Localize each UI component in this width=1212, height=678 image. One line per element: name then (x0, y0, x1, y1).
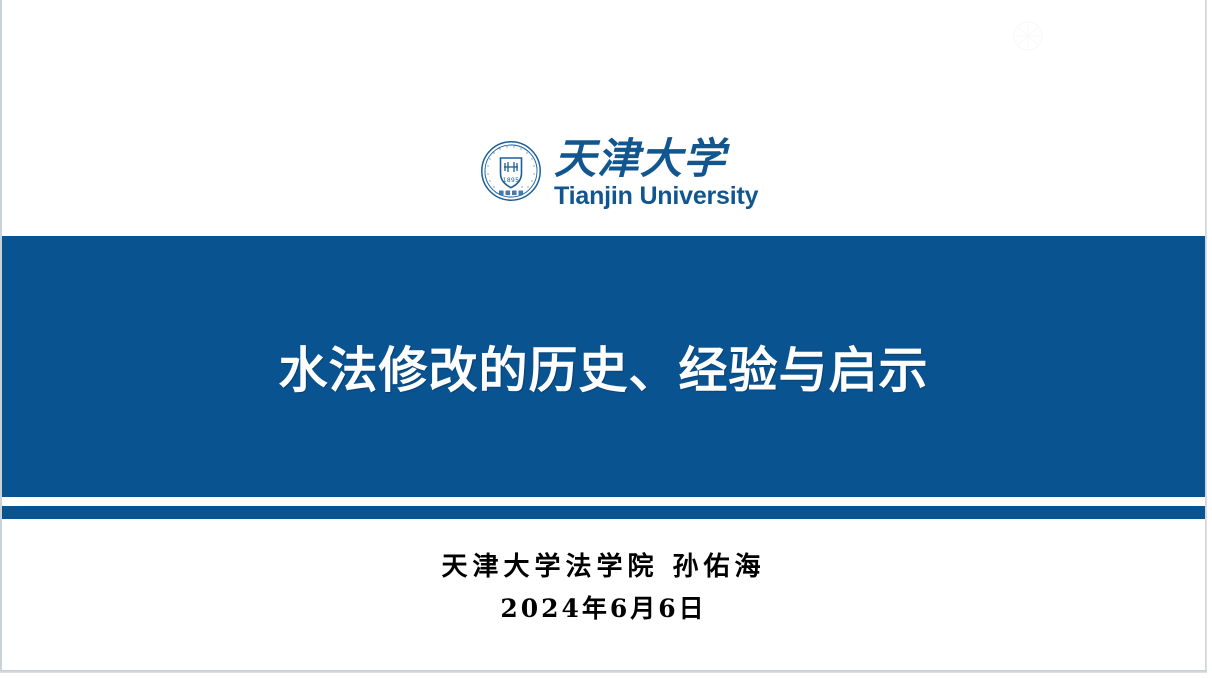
footer-author: 天津大学法学院 孙佑海 (2, 546, 1205, 588)
svg-text:天津大学: 天津大学 (554, 134, 730, 183)
accent-stripe (2, 506, 1205, 519)
footer-date: 2024年6月6日 (2, 588, 1205, 630)
logo-wordmark: 天津大学 Tianjin University (554, 132, 758, 210)
svg-text:1895: 1895 (503, 177, 519, 184)
tianjin-university-seal-icon: 1895 (480, 140, 542, 202)
page-title: 水法修改的历史、经验与启示 (2, 236, 1205, 497)
slide-canvas: 1895 天津大学 Tianjin University (2, 0, 1205, 670)
footer: 天津大学法学院 孙佑海 2024年6月6日 (2, 546, 1205, 630)
university-logo: 1895 天津大学 Tianjin University (480, 128, 740, 214)
logo-english-name: Tianjin University (554, 183, 758, 209)
logo-chinese-name: 天津大学 (554, 133, 736, 183)
slide-frame: 1895 天津大学 Tianjin University (0, 0, 1212, 678)
faint-watermark-icon (1010, 20, 1046, 52)
slide-border-bottom (0, 670, 1207, 673)
